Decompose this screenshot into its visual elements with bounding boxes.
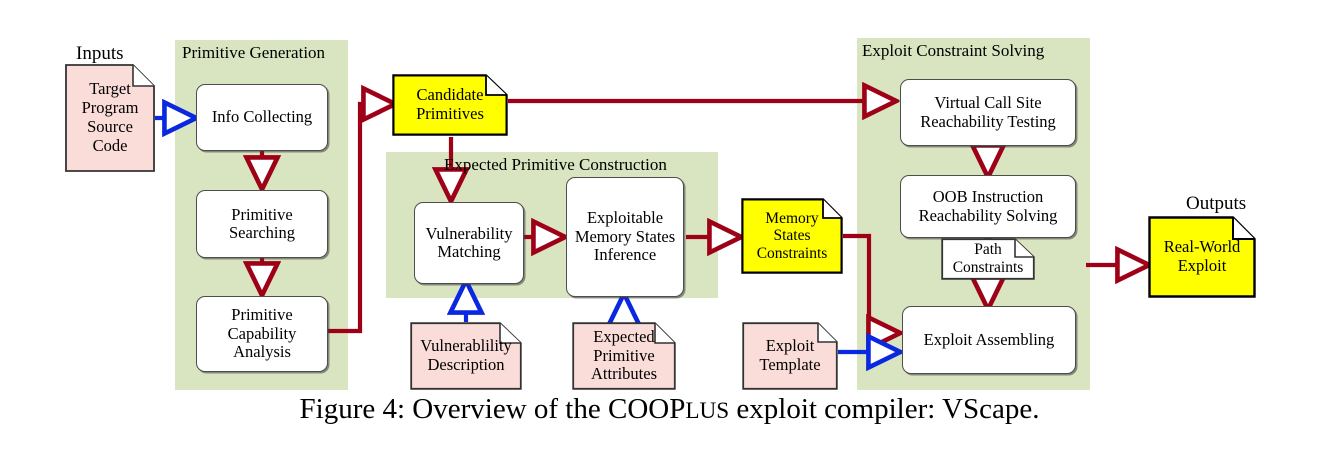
box-vulnerability-matching: Vulnerability Matching [414,202,524,284]
box-info-collecting: Info Collecting [196,84,328,151]
note-real-world-exploit: Real-World Exploit [1148,216,1256,298]
box-oob-instruction-reachability-solving: OOB Instruction Reachability Solving [900,175,1076,238]
box-label: Virtual Call Site Reachability Testing [904,94,1072,131]
box-primitive-capability-analysis: Primitive Capability Analysis [196,296,328,372]
note-memory-states-constraints: Memory States Constraints [741,198,843,274]
caption-prefix: Figure 4: Overview of the C [300,393,628,425]
box-virtual-call-site-reachability-testing: Virtual Call Site Reachability Testing [900,79,1076,146]
figure-canvas: Primitive Generation Expected Primitive … [0,0,1339,471]
note-target-program-source-code: Target Program Source Code [65,64,155,172]
note-label: Memory States Constraints [745,210,839,263]
note-label: Real-World Exploit [1152,238,1252,276]
label-inputs: Inputs [76,44,124,63]
note-label: Exploit Template [746,337,834,375]
note-label: Path Constraints [945,241,1031,276]
box-label: Info Collecting [212,108,312,126]
panel-title-primitive-generation: Primitive Generation [182,44,325,61]
box-label: Exploitable Memory States Inference [570,209,680,264]
panel-title-exploit-constraint-solving: Exploit Constraint Solving [862,42,1044,59]
figure-caption: Figure 4: Overview of the COOPLUS exploi… [0,394,1339,426]
note-expected-primitive-attributes: Expected Primitive Attributes [572,322,676,390]
caption-plus-smallcaps: LUS [685,398,729,424]
box-primitive-searching: Primitive Searching [196,190,328,258]
note-label: Target Program Source Code [69,80,151,155]
note-path-constraints: Path Constraints [941,238,1035,280]
note-vulnerability-description: Vulnerablility Description [410,322,522,390]
caption-suffix: exploit compiler: VScape. [729,393,1039,425]
box-label: Exploit Assembling [924,331,1055,349]
note-candidate-primitives: Candidate Primitives [392,74,508,136]
note-label: Candidate Primitives [396,86,504,124]
label-outputs: Outputs [1186,194,1246,213]
box-exploit-assembling: Exploit Assembling [902,306,1076,374]
box-label: Primitive Capability Analysis [200,306,324,361]
box-label: OOB Instruction Reachability Solving [904,188,1072,225]
box-label: Vulnerability Matching [418,225,520,262]
box-label: Primitive Searching [200,206,324,243]
box-exploitable-memory-states-inference: Exploitable Memory States Inference [566,177,684,297]
panel-title-expected-primitive-construction: Expected Primitive Construction [444,156,667,173]
note-label: Vulnerablility Description [414,337,518,375]
note-exploit-template: Exploit Template [742,322,838,390]
caption-coop: OOP [627,393,685,425]
note-label: Expected Primitive Attributes [576,328,672,384]
